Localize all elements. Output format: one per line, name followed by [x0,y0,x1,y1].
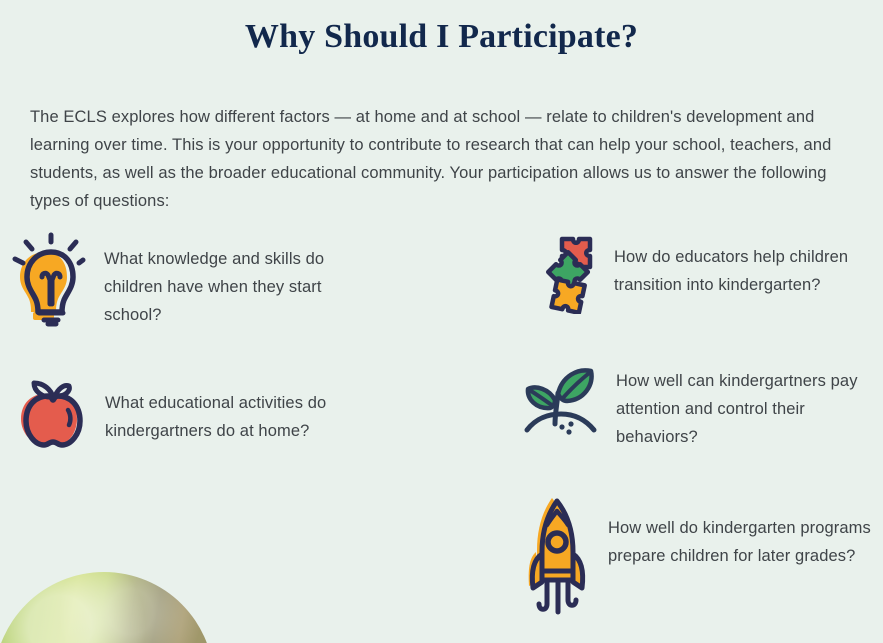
question-text: How do educators help children transitio… [614,232,872,299]
question-item-seedling: How well can kindergartners pay attentio… [522,362,872,451]
participate-section: Why Should I Participate? The ECLS explo… [0,0,883,643]
rocket-icon [522,492,594,622]
intro-paragraph: The ECLS explores how different factors … [30,103,856,215]
seedling-icon [522,362,602,443]
question-item-apple: What educational activities do kindergar… [12,372,342,455]
puzzle-pieces-icon [522,232,600,319]
question-item-puzzle: How do educators help children transitio… [522,232,872,319]
lightbulb-icon [12,232,86,337]
question-text: How well do kindergarten programs prepar… [608,492,872,570]
question-text: What knowledge and skills do children ha… [104,232,342,329]
question-text: What educational activities do kindergar… [105,372,342,445]
question-item-rocket: How well do kindergarten programs prepar… [522,492,872,622]
children-photo-circle [0,572,214,643]
question-item-lightbulb: What knowledge and skills do children ha… [12,232,342,337]
page-title: Why Should I Participate? [0,18,883,56]
question-text: How well can kindergartners pay attentio… [616,362,872,451]
apple-icon [12,372,90,455]
